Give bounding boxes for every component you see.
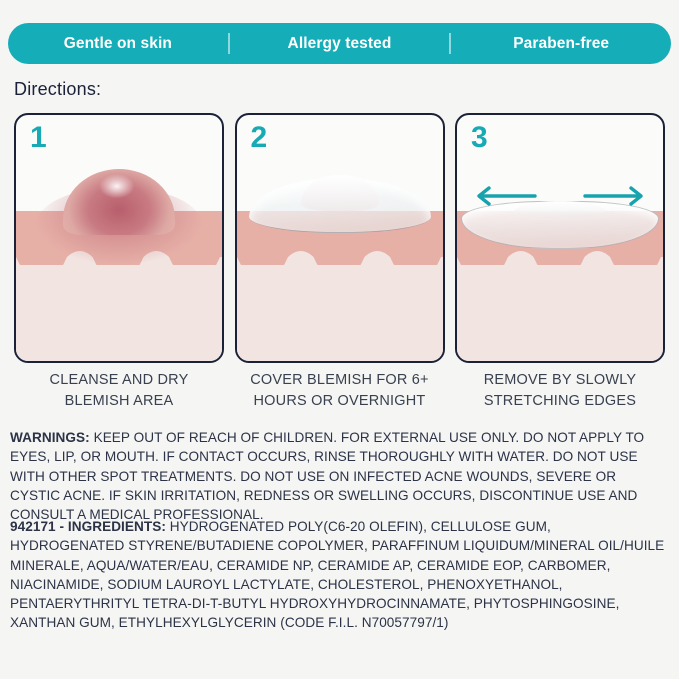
caption-line: CLEANSE AND DRY xyxy=(14,370,224,391)
arrow-right-icon xyxy=(583,183,651,209)
caption-step-3: REMOVE BY SLOWLY STRETCHING EDGES xyxy=(455,370,665,411)
step-number-1: 1 xyxy=(30,121,47,154)
blemish-bump-icon xyxy=(63,169,175,235)
caption-line: STRETCHING EDGES xyxy=(455,391,665,412)
step-panel-3: 3 xyxy=(455,113,665,363)
arrow-left-icon xyxy=(469,183,537,209)
directions-heading: Directions: xyxy=(14,79,101,100)
directions-panels: 1 2 3 xyxy=(14,113,665,363)
claim-paraben-free: Paraben-free xyxy=(451,35,671,53)
step-number-3: 3 xyxy=(471,121,488,154)
caption-line: HOURS OR OVERNIGHT xyxy=(235,391,445,412)
ingredients-paragraph: 942171 - INGREDIENTS: HYDROGENATED POLY(… xyxy=(10,517,668,633)
caption-line: BLEMISH AREA xyxy=(14,391,224,412)
caption-step-1: CLEANSE AND DRY BLEMISH AREA xyxy=(14,370,224,411)
step-panel-1: 1 xyxy=(14,113,224,363)
skin-wave-boundary xyxy=(457,251,663,291)
skin-cross-section xyxy=(237,211,443,361)
claim-allergy-tested: Allergy tested xyxy=(230,35,450,53)
caption-line: COVER BLEMISH FOR 6+ xyxy=(235,370,445,391)
caption-line: REMOVE BY SLOWLY xyxy=(455,370,665,391)
warnings-body: KEEP OUT OF REACH OF CHILDREN. FOR EXTER… xyxy=(10,430,644,522)
ingredients-body: HYDROGENATED POLY(C6-20 OLEFIN), CELLULO… xyxy=(10,519,664,630)
stretch-arrows xyxy=(457,183,663,213)
step-number-2: 2 xyxy=(251,121,268,154)
claims-banner: Gentle on skin Allergy tested Paraben-fr… xyxy=(8,23,671,64)
step-captions: CLEANSE AND DRY BLEMISH AREA COVER BLEMI… xyxy=(14,370,665,411)
warnings-paragraph: WARNINGS: KEEP OUT OF REACH OF CHILDREN.… xyxy=(10,428,668,524)
ingredients-label: 942171 - INGREDIENTS: xyxy=(10,519,166,534)
claim-gentle-on-skin: Gentle on skin xyxy=(8,35,228,53)
skin-wave-boundary xyxy=(237,251,443,291)
caption-step-2: COVER BLEMISH FOR 6+ HOURS OR OVERNIGHT xyxy=(235,370,445,411)
warnings-label: WARNINGS: xyxy=(10,430,90,445)
step-panel-2: 2 xyxy=(235,113,445,363)
